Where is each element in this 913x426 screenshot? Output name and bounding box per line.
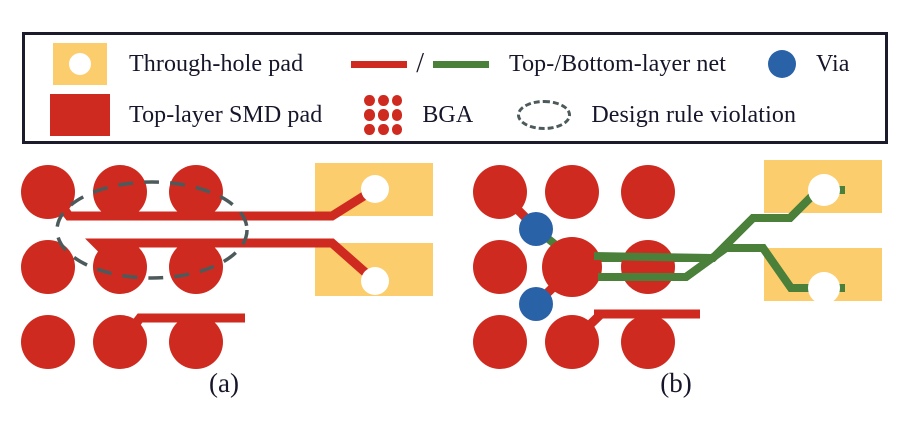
panel-a-caption: (a) [209,368,239,398]
drill-hole [361,175,389,203]
smd-pad [93,165,147,219]
smd-pad [545,165,599,219]
via [519,212,553,246]
smd-pad [473,165,527,219]
smd-pad [169,165,223,219]
board-canvas: (a) [0,0,913,426]
panel-b-caption: (b) [660,368,691,398]
panel-a-group: (a) [21,163,433,398]
drill-hole [361,267,389,295]
smd-pad [621,240,675,294]
smd-pad [545,315,599,369]
panel-b-drill-holes [808,174,840,304]
smd-pad [621,165,675,219]
smd-pad [473,240,527,294]
smd-pad [21,240,75,294]
smd-pad [21,315,75,369]
smd-pad [169,315,223,369]
smd-pad [473,315,527,369]
panel-b-smd-pads [473,165,675,369]
smd-pad [169,240,223,294]
drill-hole [808,174,840,206]
pcb-routing-figure: Through-hole pad / Top-/Bottom-layer net… [0,0,913,426]
panel-a-smd-pads [21,165,223,369]
panel-b-group: (b) [473,160,882,398]
via [519,287,553,321]
smd-pad [621,315,675,369]
smd-pad [542,237,602,297]
drill-hole [808,272,840,304]
panel-a-drill-holes [361,175,389,295]
